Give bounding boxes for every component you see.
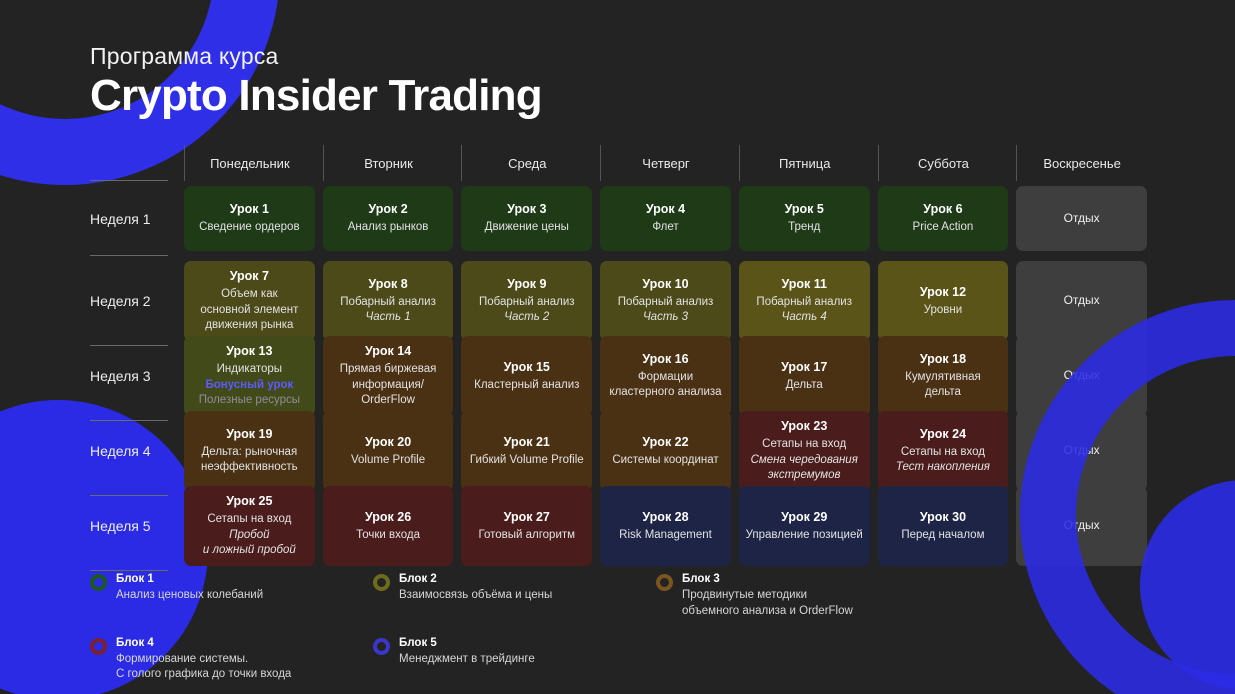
lesson-number: Урок 26 [365,510,411,525]
page-header: Программа курса Crypto Insider Trading [90,44,1189,119]
lesson-cell[interactable]: Урок 18Кумулятивнаядельта [878,336,1009,416]
legend-text: Блок 3Продвинутые методикиобъемного анал… [682,572,853,619]
lesson-cell[interactable]: Урок 1Сведение ордеров [184,186,315,251]
lesson-number: Урок 23 [781,419,827,434]
schedule-cell-wrapper: Урок 29Управление позицией [739,481,870,571]
legend-title: Блок 2 [399,572,552,588]
legend: Блок 1Анализ ценовых колебанийБлок 2Взаи… [90,572,1040,682]
bonus-lesson-label: Бонусный урок [205,378,293,393]
lesson-number: Урок 16 [642,352,688,367]
week-row: Неделя 2Урок 7Объем какосновной элементд… [90,256,1147,331]
lesson-cell[interactable]: Урок 2Анализ рынков [323,186,454,251]
lesson-cell[interactable]: Урок 16Формациикластерного анализа [600,336,731,416]
lesson-title: Системы координат [612,453,718,468]
lesson-title: Движение цены [485,220,569,235]
rest-label: Отдых [1064,211,1100,227]
lesson-cell[interactable]: Урок 5Тренд [739,186,870,251]
legend-description: Анализ ценовых колебаний [116,588,263,604]
schedule-cell-wrapper: Отдых [1016,181,1147,256]
day-header-label: Понедельник [210,156,290,171]
lesson-cell[interactable]: Урок 10Побарный анализЧасть 3 [600,261,731,341]
legend-text: Блок 1Анализ ценовых колебаний [116,572,263,603]
lesson-number: Урок 25 [226,494,272,509]
legend-item: Блок 5Менеджмент в трейдинге [373,636,656,683]
rest-day-cell[interactable]: Отдых [1016,411,1147,491]
legend-text: Блок 2Взаимосвязь объёма и цены [399,572,552,603]
lesson-number: Урок 9 [507,277,546,292]
lesson-number: Урок 14 [365,344,411,359]
day-header-2: Вторник [323,145,454,181]
legend-item: Блок 4Формирование системы.С голого граф… [90,636,373,683]
day-header-4: Четверг [600,145,731,181]
rest-day-cell[interactable]: Отдых [1016,486,1147,566]
lesson-number: Урок 27 [504,510,550,525]
week-row: Неделя 4Урок 19Дельта: рыночнаянеэффекти… [90,406,1147,481]
schedule-cell-wrapper: Урок 4Флет [600,181,731,256]
lesson-title: Перед началом [901,528,984,543]
lesson-cell[interactable]: Урок 19Дельта: рыночнаянеэффективность [184,411,315,491]
rest-label: Отдых [1064,518,1100,534]
lesson-title: Анализ рынков [348,220,429,235]
day-header-6: Суббота [878,145,1009,181]
lesson-cell[interactable]: Урок 21Гибкий Volume Profile [461,411,592,491]
lesson-title: Точки входа [356,528,420,543]
lesson-cell[interactable]: Урок 22Системы координат [600,411,731,491]
lesson-title: Прямая биржеваяинформация/OrderFlow [340,362,437,408]
schedule-cell-wrapper: Урок 6Price Action [878,181,1009,256]
legend-description: Взаимосвязь объёма и цены [399,588,552,604]
course-schedule-table: ПонедельникВторникСредаЧетвергПятницаСуб… [90,145,1147,556]
rest-label: Отдых [1064,443,1100,459]
lesson-title: Побарный анализ [479,295,575,310]
lesson-cell[interactable]: Урок 8Побарный анализЧасть 1 [323,261,454,341]
legend-title: Блок 3 [682,572,853,588]
schedule-cell-wrapper: Урок 25Сетапы на входПробойи ложный проб… [184,481,315,571]
day-header-label: Воскресенье [1043,156,1120,171]
schedule-cell-wrapper: Отдых [1016,481,1147,571]
lesson-cell[interactable]: Урок 30Перед началом [878,486,1009,566]
legend-color-ring-icon [373,574,390,591]
lesson-number: Урок 3 [507,202,546,217]
lesson-number: Урок 15 [504,360,550,375]
lesson-cell[interactable]: Урок 9Побарный анализЧасть 2 [461,261,592,341]
legend-text: Блок 4Формирование системы.С голого граф… [116,636,291,683]
lesson-title: Сетапы на вход [762,437,846,452]
lesson-cell[interactable]: Урок 24Сетапы на входТест накопления [878,411,1009,491]
lesson-cell[interactable]: Урок 27Готовый алгоритм [461,486,592,566]
page-content: Программа курса Crypto Insider Trading П… [0,0,1235,556]
lesson-title: Дельта [786,378,823,393]
lesson-cell[interactable]: Урок 4Флет [600,186,731,251]
legend-color-ring-icon [373,638,390,655]
lesson-title: Формациикластерного анализа [609,370,721,400]
lesson-cell[interactable]: Урок 28Risk Management [600,486,731,566]
lesson-title: Сетапы на вход [901,445,985,460]
lesson-title: Флет [652,220,678,235]
day-header-1: Понедельник [184,145,315,181]
lesson-subtitle: Часть 4 [782,310,827,325]
legend-item: Блок 1Анализ ценовых колебаний [90,572,373,619]
legend-color-ring-icon [90,638,107,655]
week-row: Неделя 3Урок 13ИндикаторыБонусный урокПо… [90,331,1147,406]
lesson-cell[interactable]: Урок 26Точки входа [323,486,454,566]
rest-day-cell[interactable]: Отдых [1016,336,1147,416]
week-label-1: Неделя 1 [90,181,176,256]
table-corner-cell [90,145,176,181]
lesson-number: Урок 12 [920,285,966,300]
lesson-subtitle: Часть 1 [366,310,411,325]
lesson-title: Кумулятивнаядельта [905,370,981,400]
legend-description: Продвинутые методикиобъемного анализа и … [682,588,853,619]
lesson-cell[interactable]: Урок 20Volume Profile [323,411,454,491]
legend-description: Менеджмент в трейдинге [399,652,535,668]
lesson-cell[interactable]: Урок 12Уровни [878,261,1009,341]
day-header-label: Суббота [918,156,969,171]
legend-title: Блок 4 [116,636,291,652]
lesson-title: Сетапы на вход [207,512,291,527]
lesson-number: Урок 2 [368,202,407,217]
lesson-subtitle: Часть 2 [504,310,549,325]
lesson-title: Дельта: рыночнаянеэффективность [201,445,298,475]
lesson-title: Уровни [924,303,962,318]
lesson-subtitle: Тест накопления [896,460,990,475]
lesson-number: Урок 24 [920,427,966,442]
day-header-label: Четверг [642,156,689,171]
lesson-number: Урок 5 [785,202,824,217]
lesson-title: Кластерный анализ [474,378,579,393]
legend-color-ring-icon [656,574,673,591]
rest-label: Отдых [1064,293,1100,309]
lesson-cell[interactable]: Урок 13ИндикаторыБонусный урокПолезные р… [184,336,315,416]
lesson-number: Урок 28 [642,510,688,525]
day-header-label: Вторник [364,156,413,171]
lesson-number: Урок 29 [781,510,827,525]
day-header-7: Воскресенье [1016,145,1147,181]
page-kicker: Программа курса [90,44,1189,69]
lesson-cell[interactable]: Урок 17Дельта [739,336,870,416]
schedule-cell-wrapper: Урок 2Анализ рынков [323,181,454,256]
lesson-cell[interactable]: Урок 6Price Action [878,186,1009,251]
lesson-number: Урок 17 [781,360,827,375]
legend-item: Блок 3Продвинутые методикиобъемного анал… [656,572,976,619]
week-rows-container: Неделя 1Урок 1Сведение ордеровУрок 2Анал… [90,181,1147,556]
day-header-row: ПонедельникВторникСредаЧетвергПятницаСуб… [90,145,1147,181]
lesson-subtitle: Смена чередованияэкстремумов [751,453,858,483]
lesson-number: Урок 7 [230,269,269,284]
lesson-number: Урок 19 [226,427,272,442]
page-title: Crypto Insider Trading [90,73,1189,119]
week-label-5: Неделя 5 [90,481,176,571]
day-header-3: Среда [461,145,592,181]
rest-day-cell[interactable]: Отдых [1016,261,1147,341]
week-row: Неделя 1Урок 1Сведение ордеровУрок 2Анал… [90,181,1147,256]
schedule-cell-wrapper: Урок 1Сведение ордеров [184,181,315,256]
lesson-subtitle: Часть 3 [643,310,688,325]
lesson-number: Урок 6 [923,202,962,217]
legend-item: Блок 2Взаимосвязь объёма и цены [373,572,656,619]
legend-color-ring-icon [90,574,107,591]
legend-title: Блок 1 [116,572,263,588]
lesson-title: Управление позицией [746,528,863,543]
schedule-cell-wrapper: Урок 30Перед началом [878,481,1009,571]
lesson-title: Гибкий Volume Profile [470,453,584,468]
lesson-number: Урок 10 [642,277,688,292]
lesson-number: Урок 30 [920,510,966,525]
rest-day-cell[interactable]: Отдых [1016,186,1147,251]
lesson-title: Готовый алгоритм [478,528,575,543]
legend-description: Формирование системы.С голого графика до… [116,652,291,683]
lesson-subtitle: Пробойи ложный пробой [203,528,296,558]
legend-text: Блок 5Менеджмент в трейдинге [399,636,535,667]
lesson-cell[interactable]: Урок 15Кластерный анализ [461,336,592,416]
day-header-label: Среда [508,156,546,171]
lesson-cell[interactable]: Урок 3Движение цены [461,186,592,251]
lesson-number: Урок 4 [646,202,685,217]
lesson-title: Price Action [913,220,974,235]
week-row: Неделя 5Урок 25Сетапы на входПробойи лож… [90,481,1147,556]
lesson-number: Урок 1 [230,202,269,217]
day-header-label: Пятница [779,156,830,171]
schedule-cell-wrapper: Урок 27Готовый алгоритм [461,481,592,571]
lesson-number: Урок 18 [920,352,966,367]
lesson-number: Урок 8 [368,277,407,292]
lesson-title: Побарный анализ [618,295,714,310]
lesson-title: Побарный анализ [756,295,852,310]
lesson-number: Урок 21 [504,435,550,450]
lesson-title: Побарный анализ [340,295,436,310]
lesson-title: Сведение ордеров [199,220,299,235]
lesson-cell[interactable]: Урок 7Объем какосновной элементдвижения … [184,261,315,341]
lesson-cell[interactable]: Урок 25Сетапы на входПробойи ложный проб… [184,486,315,566]
schedule-cell-wrapper: Урок 26Точки входа [323,481,454,571]
lesson-number: Урок 13 [226,344,272,359]
lesson-number: Урок 11 [781,277,827,292]
legend-title: Блок 5 [399,636,535,652]
lesson-title: Volume Profile [351,453,425,468]
lesson-cell[interactable]: Урок 11Побарный анализЧасть 4 [739,261,870,341]
lesson-title: Risk Management [619,528,712,543]
rest-label: Отдых [1064,368,1100,384]
lesson-title: Объем какосновной элементдвижения рынка [200,287,298,333]
lesson-number: Урок 20 [365,435,411,450]
lesson-title: Индикаторы [217,362,282,377]
schedule-cell-wrapper: Урок 28Risk Management [600,481,731,571]
lesson-title: Тренд [788,220,820,235]
day-header-5: Пятница [739,145,870,181]
schedule-cell-wrapper: Урок 5Тренд [739,181,870,256]
lesson-cell[interactable]: Урок 14Прямая биржеваяинформация/OrderFl… [323,336,454,416]
lesson-cell[interactable]: Урок 29Управление позицией [739,486,870,566]
schedule-cell-wrapper: Урок 3Движение цены [461,181,592,256]
lesson-number: Урок 22 [642,435,688,450]
lesson-cell[interactable]: Урок 23Сетапы на входСмена чередованияэк… [739,411,870,491]
